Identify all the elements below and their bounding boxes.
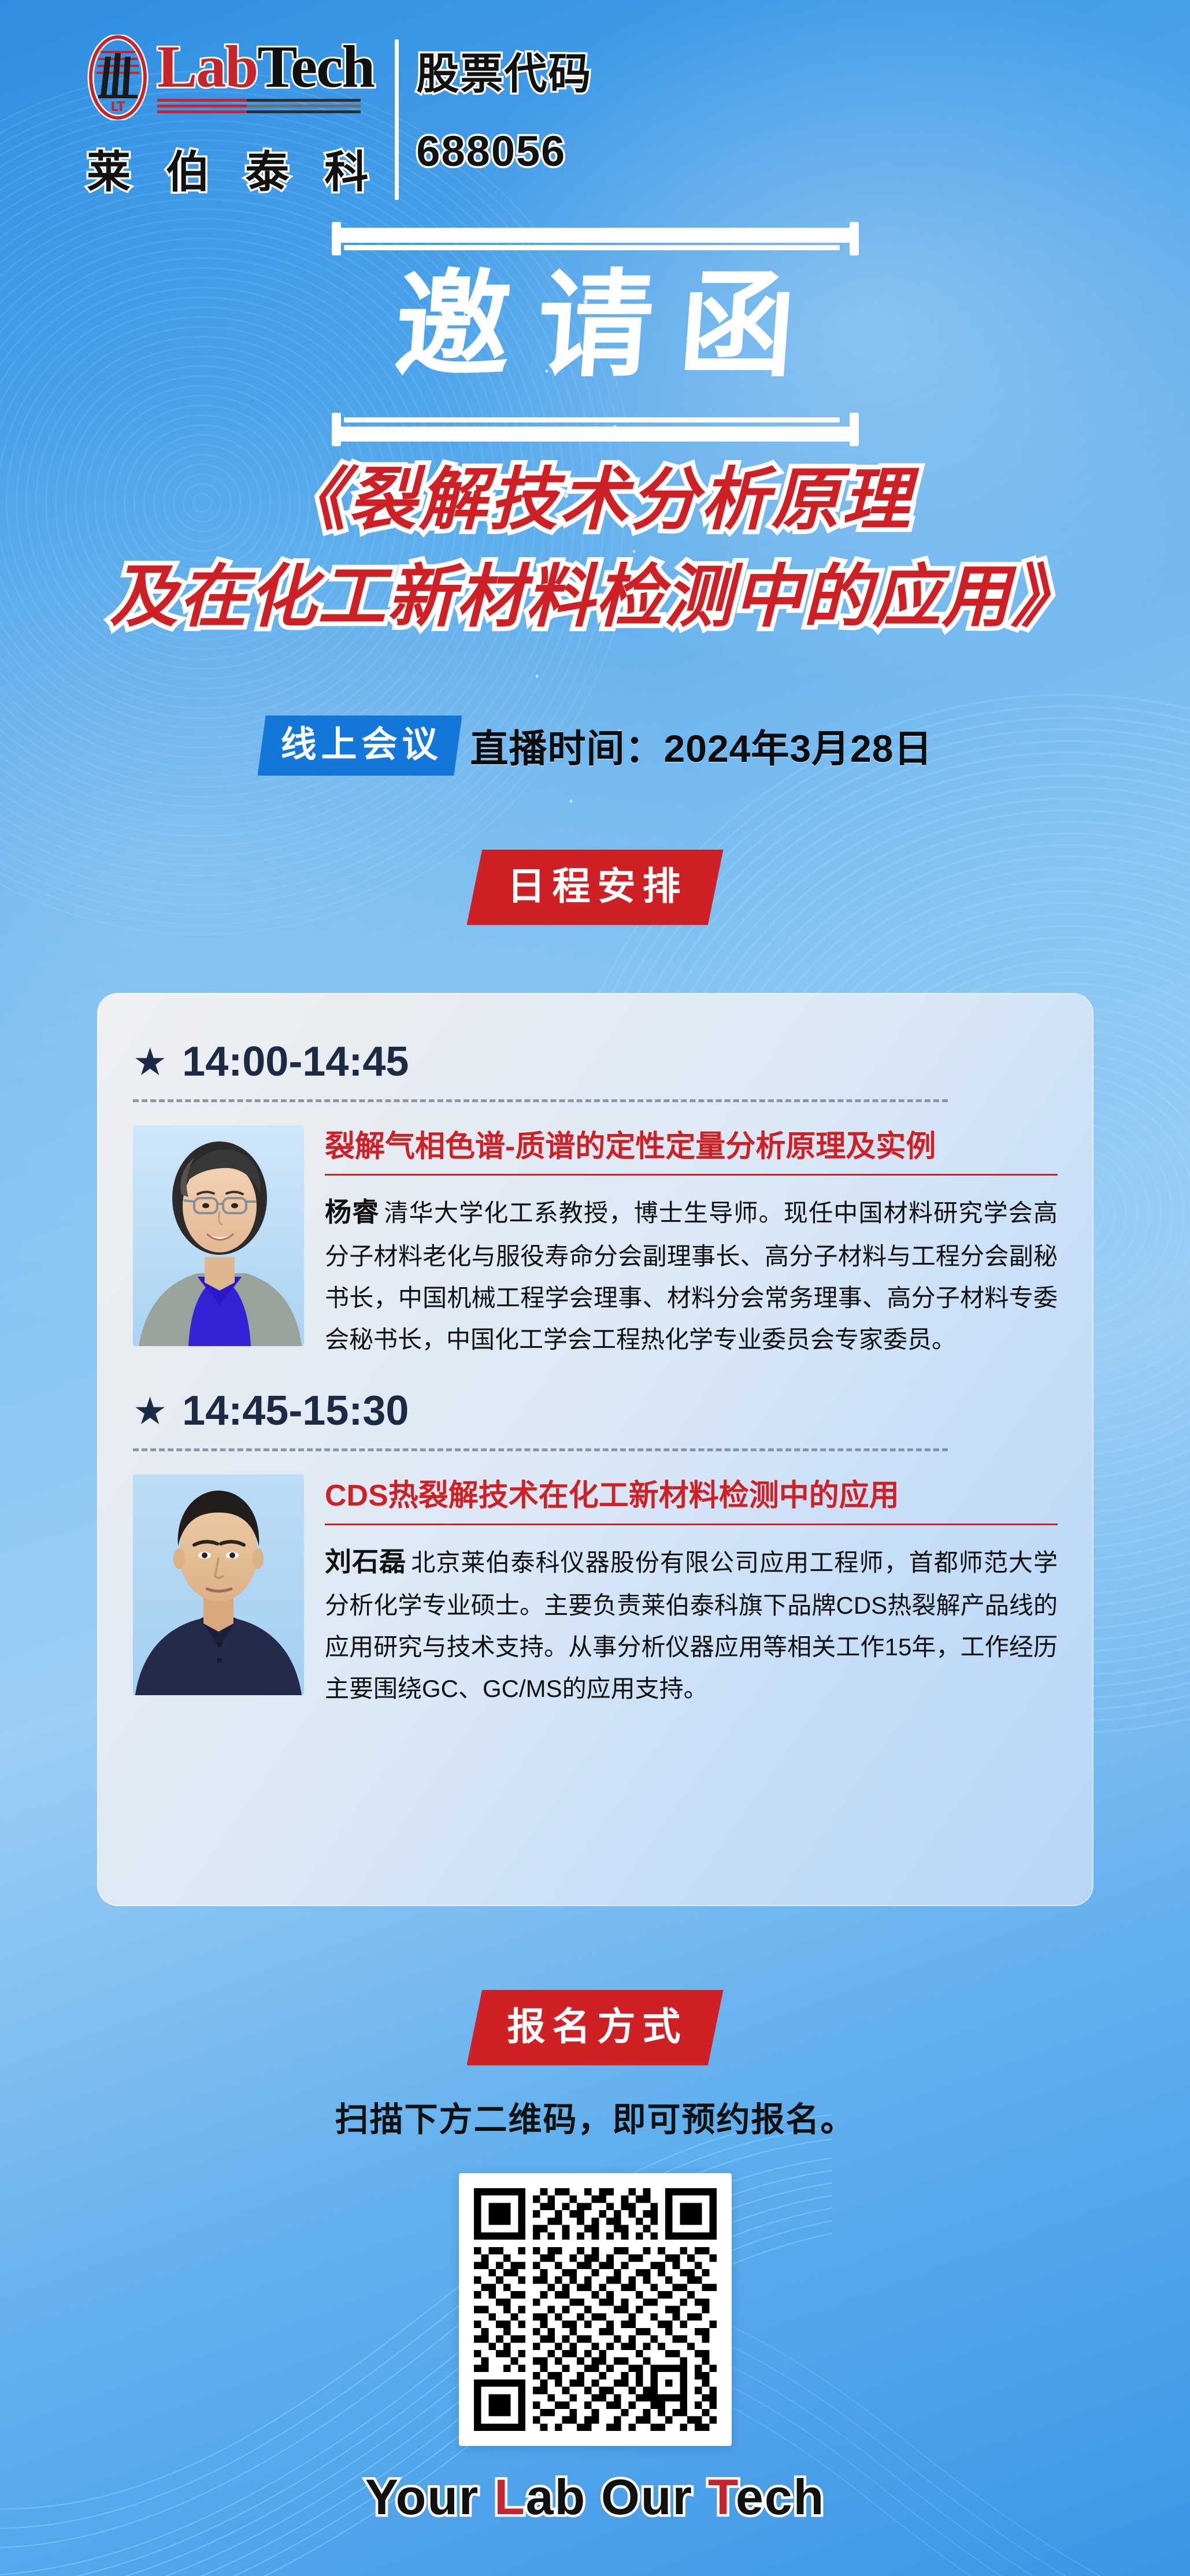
- page-title: 《裂解技术分析原理 及在化工新材料检测中的应用》: [0, 452, 1190, 646]
- qr-code-wrap: [0, 2173, 1190, 2446]
- slogan-our: our: [396, 2470, 494, 2525]
- footer-slogan: Your Lab Our Tech: [0, 2469, 1190, 2526]
- session-2-bio-text: 北京莱伯泰科仪器股份有限公司应用工程师，首都师范大学分析化学专业硕士。主要负责莱…: [325, 1549, 1058, 1703]
- agenda-card: ★ 14:00-14:45: [97, 993, 1093, 1906]
- slogan-y: Y: [365, 2470, 396, 2525]
- signup-note: 扫描下方二维码，即可预约报名。: [0, 2092, 1190, 2141]
- session-2-talk: CDS热裂解技术在化工新材料检测中的应用 刘石磊北京莱伯泰科仪器股份有限公司应用…: [133, 1474, 1058, 1710]
- header: LT LabTech 莱 伯 泰 科 股票代码 688056: [87, 35, 592, 200]
- page-title-line2: 及在化工新材料检测中的应用》: [0, 549, 1190, 646]
- signup-banner-wrap: 报名方式: [0, 1990, 1190, 2066]
- invitation-frame-corner-tr: [850, 222, 859, 255]
- qr-code-icon[interactable]: [474, 2188, 717, 2431]
- slogan-t-accent: T: [708, 2470, 736, 2525]
- session-1-talk: 裂解气相色谱-质谱的定性定量分析原理及实例 杨睿清华大学化工系教授，博士生导师。…: [133, 1125, 1058, 1361]
- session-2-time-row: ★ 14:45-15:30: [133, 1387, 1058, 1435]
- signup-banner: 报名方式: [467, 1990, 724, 2066]
- brand-wordmark: LabTech: [157, 39, 374, 96]
- invitation-calligraphy-text: 邀请函: [301, 253, 889, 398]
- session-1-speaker-name: 杨睿: [325, 1197, 379, 1227]
- session-2-talk-title: CDS热裂解技术在化工新材料检测中的应用: [325, 1478, 1058, 1525]
- slogan-ech: ech: [736, 2470, 825, 2525]
- svg-text:LT: LT: [110, 100, 125, 114]
- qr-code[interactable]: [459, 2173, 732, 2446]
- invitation-frame-corner-tl: [332, 222, 341, 255]
- session-2-divider: [133, 1448, 948, 1451]
- schedule-banner: 日程安排: [467, 850, 724, 925]
- invitation-banner: 邀请函: [0, 208, 1190, 457]
- labtech-logo-icon: LT: [87, 35, 149, 120]
- brand-logo[interactable]: LT LabTech 莱 伯 泰 科: [87, 35, 380, 200]
- session-2-speaker-bio: 刘石磊北京莱伯泰科仪器股份有限公司应用工程师，首都师范大学分析化学专业硕士。主要…: [325, 1539, 1058, 1710]
- star-icon: ★: [133, 1043, 167, 1081]
- invitation-frame-top-bar: [338, 228, 852, 243]
- slogan-l-accent: L: [494, 2470, 526, 2525]
- brand-name-chinese: 莱 伯 泰 科: [87, 136, 380, 200]
- invitation-frame-bottom-bar: [338, 427, 852, 442]
- brand-wordmark-lab: Lab: [157, 34, 257, 100]
- session-2-speaker-name: 刘石磊: [325, 1547, 406, 1577]
- schedule-banner-wrap: 日程安排: [0, 850, 1190, 925]
- session-1-time-row: ★ 14:00-14:45: [133, 1038, 1058, 1085]
- session-2-time: 14:45-15:30: [182, 1387, 409, 1435]
- online-meeting-badge: 线上会议: [258, 716, 462, 776]
- meeting-info-row: 线上会议 直播时间：2024年3月28日: [0, 716, 1190, 776]
- poster-root: LT LabTech 莱 伯 泰 科 股票代码 688056 邀请函: [0, 0, 1190, 2576]
- agenda-session-2: ★ 14:45-15:30: [97, 1361, 1093, 1710]
- stock-code-value: 688056: [416, 127, 592, 176]
- session-1-time: 14:00-14:45: [182, 1038, 409, 1085]
- header-divider: [395, 39, 399, 200]
- slogan-ab: ab: [526, 2470, 601, 2525]
- page-title-line1: 《裂解技术分析原理: [0, 452, 1190, 549]
- session-1-speaker-photo: [133, 1125, 304, 1346]
- session-1-divider: [133, 1099, 948, 1102]
- live-time-text: 直播时间：2024年3月28日: [470, 718, 933, 773]
- slogan-our2: Our: [601, 2470, 708, 2525]
- session-1-bio-text: 清华大学化工系教授，博士生导师。现任中国材料研究学会高分子材料老化与服役寿命分会…: [325, 1199, 1058, 1353]
- session-1-speaker-bio: 杨睿清华大学化工系教授，博士生导师。现任中国材料研究学会高分子材料老化与服役寿命…: [325, 1189, 1058, 1361]
- speaker-2-avatar: [133, 1474, 304, 1695]
- speaker-1-avatar: [133, 1125, 304, 1346]
- brand-wordmark-tech: Tech: [257, 34, 374, 100]
- session-2-speaker-photo: [133, 1474, 304, 1695]
- star-icon: ★: [133, 1392, 167, 1430]
- session-1-talk-title: 裂解气相色谱-质谱的定性定量分析原理及实例: [325, 1129, 1058, 1176]
- stock-code-label: 股票代码: [416, 39, 592, 101]
- brand-rule-lines: [157, 99, 361, 116]
- agenda-session-1: ★ 14:00-14:45: [97, 993, 1093, 1361]
